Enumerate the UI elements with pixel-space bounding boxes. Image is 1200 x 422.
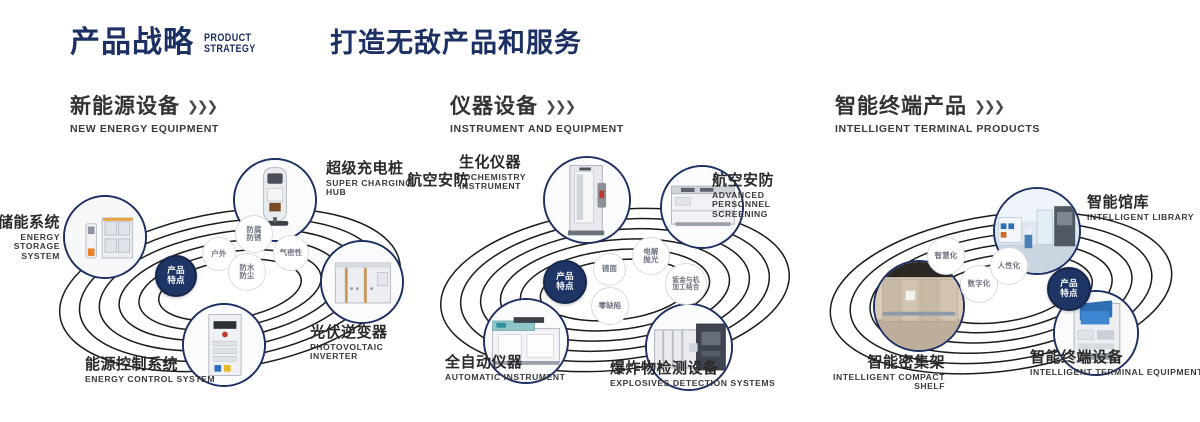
feature-core-line2: 特点 [556, 282, 574, 292]
node-label-cn: 航空安防 [712, 173, 815, 189]
energy-storage-icon [65, 197, 145, 277]
feature-label: 防水防尘 [236, 264, 258, 281]
section-title-cn: 仪器设备 [450, 96, 538, 117]
feature-label: 智慧化 [935, 252, 958, 260]
biochemistry-instrument-icon [545, 158, 629, 242]
label-aviation-security-left: 航空安防 [407, 173, 469, 189]
section-title-cn: 新能源设备 [70, 96, 180, 117]
label-intelligent-library: 智能馆库 INTELLIGENT LIBRARY [1087, 195, 1194, 222]
label-energy-control-system: 能源控制系统 ENERGY CONTROL SYSTEM [85, 357, 215, 384]
section-title-en: INTELLIGENT TERMINAL PRODUCTS [835, 123, 1040, 135]
node-label-cn: 光伏逆变器 [310, 325, 430, 341]
node-label-en: AUTOMATIC INSTRUMENT [445, 373, 565, 382]
cluster-intelligent: 智能馆库 INTELLIGENT LIBRARY 智能密集架 INTELLIGE… [805, 165, 1200, 415]
node-label-en: PHOTOVOLTAIC INVERTER [310, 343, 430, 362]
feature-bubble-airtight[interactable]: 气密性 [273, 235, 309, 271]
compact-shelf-icon [875, 262, 963, 350]
node-label-en: ENERGY STORAGE SYSTEM [0, 233, 60, 261]
cluster-new-energy: 储能系统 ENERGY STORAGE SYSTEM 超级充电桩 SUPER C… [30, 165, 430, 415]
feature-core-bubble[interactable]: 产品特点 [155, 255, 197, 297]
feature-bubble-zero-defect[interactable]: 零缺陷 [591, 287, 629, 325]
label-advanced-personnel-screening: 航空安防 ADVANCED PERSONNEL SCREENING [712, 173, 815, 219]
node-label-en: ENERGY CONTROL SYSTEM [85, 375, 215, 384]
section-title-en: INSTRUMENT AND EQUIPMENT [450, 123, 624, 135]
feature-bubble-electropolishing[interactable]: 电解抛光 [632, 237, 670, 275]
section-heading-new-energy: 新能源设备 ❯❯❯ NEW ENERGY EQUIPMENT [70, 96, 219, 135]
node-label-cn: 智能馆库 [1087, 195, 1194, 211]
feature-bubble-intelligence[interactable]: 智慧化 [927, 237, 965, 275]
node-label-cn: 能源控制系统 [85, 357, 215, 373]
node-photovoltaic-inverter[interactable] [320, 240, 404, 324]
node-label-cn: 航空安防 [407, 173, 469, 189]
feature-label: 气密性 [280, 249, 303, 257]
label-intelligent-compact-shelf: 智能密集架 INTELLIGENT COMPACT SHELF [815, 355, 945, 392]
cluster-instrument: 生化仪器 BIOCHEMISTRY INSTRUMENT 航空安防 航空安防 A [415, 165, 815, 415]
section-heading-intelligent: 智能终端产品 ❯❯❯ INTELLIGENT TERMINAL PRODUCTS [835, 96, 1040, 135]
node-label-en: INTELLIGENT COMPACT SHELF [815, 373, 945, 392]
label-energy-storage: 储能系统 ENERGY STORAGE SYSTEM [0, 215, 60, 261]
label-photovoltaic-inverter: 光伏逆变器 PHOTOVOLTAIC INVERTER [310, 325, 430, 362]
chevrons-right-icon: ❯❯❯ [975, 98, 1004, 115]
feature-bubble-waterproof[interactable]: 防水防尘 [228, 253, 266, 291]
label-automatic-instrument: 全自动仪器 AUTOMATIC INSTRUMENT [445, 355, 565, 382]
node-label-en: INTELLIGENT LIBRARY [1087, 213, 1194, 222]
chevrons-right-icon: ❯❯❯ [546, 98, 575, 115]
node-label-cn: 生化仪器 [430, 155, 550, 171]
node-label-en: EXPLOSIVES DETECTION SYSTEMS [610, 379, 775, 388]
section-heading-instrument: 仪器设备 ❯❯❯ INSTRUMENT AND EQUIPMENT [450, 96, 624, 135]
feature-label: 电解抛光 [640, 248, 662, 265]
feature-core-bubble[interactable]: 产品特点 [1047, 267, 1091, 311]
feature-core-line2: 特点 [167, 276, 185, 286]
poster-canvas: 产品战略 PRODUCT STRATEGY 打造无敌产品和服务 新能源设备 ❯❯… [0, 0, 1200, 422]
chevrons-right-icon: ❯❯❯ [188, 98, 217, 115]
feature-label: 防腐防锈 [243, 226, 265, 243]
node-label-en: ADVANCED PERSONNEL SCREENING [712, 191, 815, 219]
feature-label: 零缺陷 [599, 302, 622, 310]
feature-bubble-anticorrosion[interactable]: 防腐防锈 [235, 215, 273, 253]
poster-header: 产品战略 PRODUCT STRATEGY [70, 28, 267, 58]
feature-bubble-humanization[interactable]: 人性化 [990, 247, 1028, 285]
page-title: 产品战略 [70, 28, 194, 58]
inverter-icon [322, 242, 402, 322]
feature-bubble-mirror[interactable]: 镜面 [593, 253, 626, 286]
node-label-cn: 智能密集架 [815, 355, 945, 371]
page-subtitle: 打造无敌产品和服务 [330, 30, 582, 57]
label-explosives-detection: 爆炸物检测设备 EXPLOSIVES DETECTION SYSTEMS [610, 361, 775, 388]
feature-core-line2: 特点 [1060, 289, 1078, 299]
page-title-en: PRODUCT STRATEGY [204, 33, 256, 55]
feature-label: 钣金与机加工结合 [671, 277, 701, 292]
feature-label: 镜面 [602, 265, 617, 273]
feature-label: 数字化 [968, 280, 991, 288]
node-label-cn: 智能终端设备 [1030, 350, 1200, 366]
feature-label: 户外 [211, 250, 226, 258]
node-label-cn: 全自动仪器 [445, 355, 565, 371]
label-intelligent-terminal-equipment: 智能终端设备 INTELLIGENT TERMINAL EQUIPMENT [1030, 350, 1200, 377]
feature-core-bubble[interactable]: 产品特点 [543, 260, 587, 304]
feature-label: 人性化 [998, 262, 1021, 270]
node-label-en: INTELLIGENT TERMINAL EQUIPMENT [1030, 368, 1200, 377]
node-energy-storage[interactable] [63, 195, 147, 279]
node-biochemistry-instrument[interactable] [543, 156, 631, 244]
feature-bubble-sheetmetal-machining[interactable]: 钣金与机加工结合 [665, 263, 707, 305]
node-label-cn: 爆炸物检测设备 [610, 361, 775, 377]
section-title-en: NEW ENERGY EQUIPMENT [70, 123, 219, 135]
section-title-cn: 智能终端产品 [835, 96, 967, 117]
node-label-cn: 储能系统 [0, 215, 60, 231]
